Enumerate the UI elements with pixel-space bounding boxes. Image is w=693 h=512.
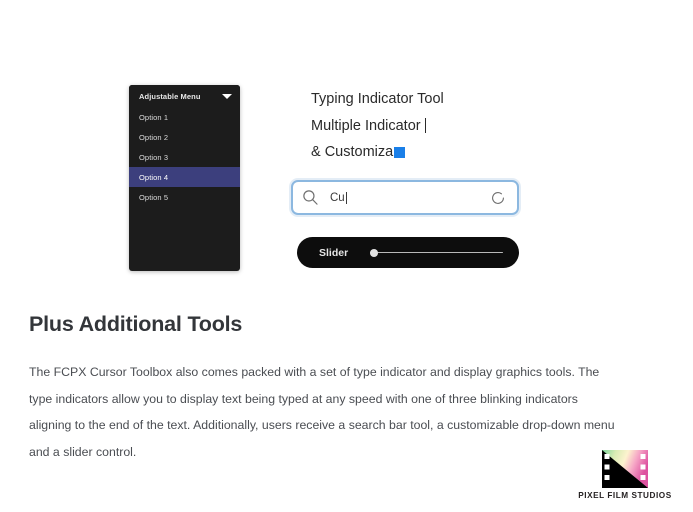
typing-line-1-text: Typing Indicator Tool xyxy=(311,86,444,113)
slider-track[interactable] xyxy=(370,252,503,254)
typing-line-3-text: & Customiza xyxy=(311,139,393,166)
menu-option-label: Option 4 xyxy=(139,173,168,182)
menu-option-label: Option 1 xyxy=(139,113,168,122)
menu-option-label: Option 3 xyxy=(139,153,168,162)
search-icon xyxy=(301,188,320,207)
slider-label: Slider xyxy=(319,247,348,259)
text-cursor-icon xyxy=(346,192,347,204)
slider-control[interactable]: Slider xyxy=(297,237,519,268)
typing-line-2-text: Multiple Indicator xyxy=(311,113,421,140)
typing-line-3: & Customiza xyxy=(311,139,541,166)
search-bar[interactable]: Cu xyxy=(291,180,519,215)
menu-option-4[interactable]: Option 4 xyxy=(129,167,240,187)
page-title: Plus Additional Tools xyxy=(29,312,629,337)
adjustable-dropdown-menu[interactable]: Adjustable Menu Option 1 Option 2 Option… xyxy=(129,85,240,271)
menu-option-label: Option 5 xyxy=(139,193,168,202)
menu-option-1[interactable]: Option 1 xyxy=(129,107,240,127)
search-input-value: Cu xyxy=(330,192,345,204)
tools-showcase: Adjustable Menu Option 1 Option 2 Option… xyxy=(0,0,693,295)
chevron-down-icon xyxy=(222,94,232,99)
menu-option-5[interactable]: Option 5 xyxy=(129,187,240,207)
search-input[interactable]: Cu xyxy=(330,192,489,204)
copy-block: Plus Additional Tools The FCPX Cursor To… xyxy=(29,312,629,465)
typing-line-2: Multiple Indicator xyxy=(311,113,541,140)
slider-track-wrap[interactable] xyxy=(370,247,503,259)
menu-option-3[interactable]: Option 3 xyxy=(129,147,240,167)
refresh-icon[interactable] xyxy=(489,189,507,207)
film-strip-icon xyxy=(602,450,648,488)
typing-line-1: Typing Indicator Tool xyxy=(311,86,541,113)
bar-cursor-icon xyxy=(425,118,427,133)
brand-logo: PIXEL FILM STUDIOS xyxy=(566,450,684,500)
menu-option-2[interactable]: Option 2 xyxy=(129,127,240,147)
block-cursor-icon xyxy=(394,147,405,158)
dropdown-header-label: Adjustable Menu xyxy=(139,92,218,101)
typing-indicator-demo: Typing Indicator Tool Multiple Indicator… xyxy=(311,86,541,166)
body-paragraph: The FCPX Cursor Toolbox also comes packe… xyxy=(29,359,619,465)
slider-handle[interactable] xyxy=(370,249,378,257)
dropdown-header[interactable]: Adjustable Menu xyxy=(129,85,240,107)
brand-name: PIXEL FILM STUDIOS xyxy=(578,491,671,500)
menu-option-label: Option 2 xyxy=(139,133,168,142)
